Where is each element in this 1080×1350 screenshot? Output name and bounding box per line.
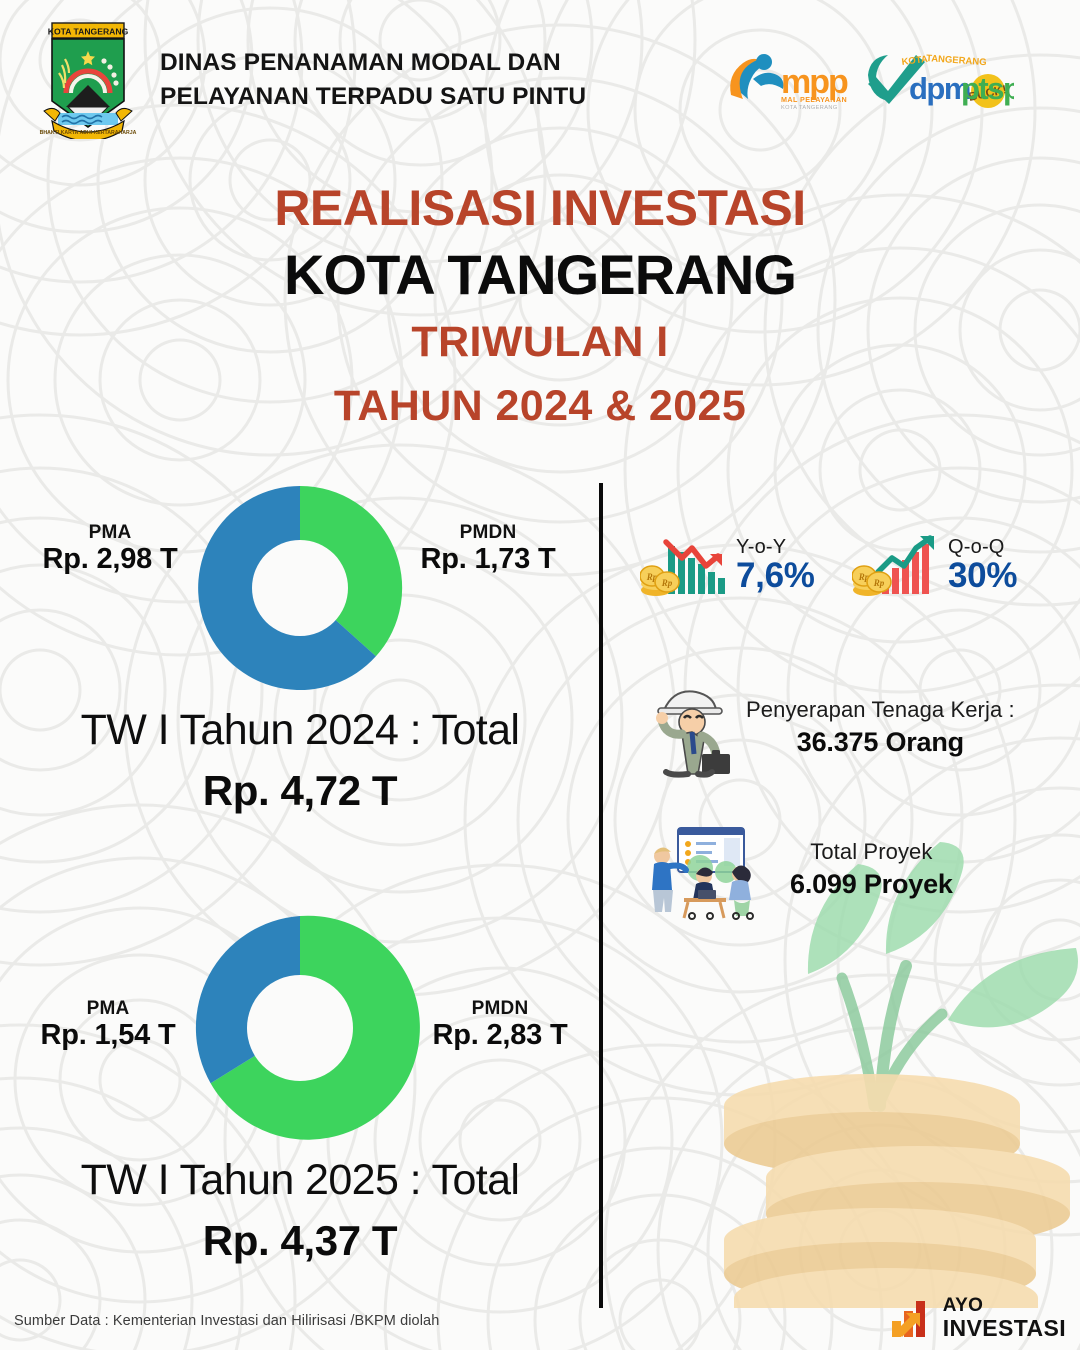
svg-text:TANGERANG: TANGERANG [926,53,987,68]
metric-qoq-value: 30% [948,558,1017,595]
svg-text:Rp: Rp [661,578,673,588]
donut-chart-2025-wrap [0,908,600,1128]
construction-worker-icon [648,678,734,778]
svg-text:MAL PELAYANAN PUBLIK: MAL PELAYANAN PUBLIK [781,95,848,104]
department-name: DINAS PENANAMAN MODAL DAN PELAYANAN TERP… [160,46,586,114]
donut-chart-2025 [180,908,420,1148]
department-name-line1: DINAS PENANAMAN MODAL DAN [160,46,586,80]
ayo-investasi-line1: AYO [943,1296,1066,1315]
svg-text:ptsp: ptsp [961,71,1014,106]
svg-text:KOTA TANGERANG: KOTA TANGERANG [48,27,129,37]
svg-text:KOTA: KOTA [901,54,928,68]
svg-text:KOTA TANGERANG: KOTA TANGERANG [781,105,838,111]
metric-qoq-label: Q-o-Q [948,536,1017,558]
metric-qoq-text: Q-o-Q 30% [948,536,1017,595]
team-presentation-icon [648,820,768,920]
vertical-divider [599,483,603,1308]
metric-yoy: Rp Rp Y-o-Y 7,6% [640,528,852,602]
title-line-triwulan: TRIWULAN I [0,315,1080,371]
poster-title: REALISASI INVESTASI KOTA TANGERANG TRIWU… [0,178,1080,435]
title-line-kota-tangerang: KOTA TANGERANG [0,241,1080,309]
metric-yoy-label: Y-o-Y [736,536,815,558]
chart-decline-icon: Rp Rp [640,528,726,602]
title-line-realisasi-investasi: REALISASI INVESTASI [0,178,1080,239]
kota-tangerang-crest-logo: KOTA TANGERANG BHAKTI KARYA ADHI KERT [38,21,138,139]
metric-labor-text: Penyerapan Tenaga Kerja : 36.375 Orang [746,696,1015,760]
growth-metrics-row: Rp Rp Y-o-Y 7,6% [640,528,1070,602]
ayo-investasi-line2: INVESTASI [943,1317,1066,1340]
svg-text:BHAKTI KARYA ADHI KERTARAHARJA: BHAKTI KARYA ADHI KERTARAHARJA [40,130,137,136]
ayo-investasi-arrow-icon [890,1297,934,1339]
department-name-line2: PELAYANAN TERPADU SATU PINTU [160,80,586,114]
metric-labor-caption: Penyerapan Tenaga Kerja : [746,696,1015,724]
panel-2025: TW I Tahun 2025 : Total Rp. 4,37 T [0,908,600,1265]
panel-2024: TW I Tahun 2024 : Total Rp. 4,72 T [0,478,600,815]
title-line-tahun: TAHUN 2024 & 2025 [0,379,1080,435]
total-value-2025: Rp. 4,37 T [0,1217,600,1265]
ayo-investasi-wordmark: AYO INVESTASI [943,1296,1066,1340]
metric-yoy-value: 7,6% [736,558,815,595]
metric-qoq: Rp Rp Q-o-Q 30% [852,528,1017,602]
svg-text:Rp: Rp [873,578,885,588]
metric-project-value: 6.099 Proyek [790,868,953,902]
metric-yoy-text: Y-o-Y 7,6% [736,536,815,595]
mpp-logo: mpp MAL PELAYANAN PUBLIK KOTA TANGERANG [723,49,848,111]
total-caption-2024: TW I Tahun 2024 : Total [0,706,600,755]
ayo-investasi-logo: AYO INVESTASI [890,1296,1066,1340]
metric-project-text: Total Proyek 6.099 Proyek [790,838,953,902]
donut-chart-2024-wrap [0,478,600,698]
partner-logo-group: mpp MAL PELAYANAN PUBLIK KOTA TANGERANG … [723,47,1050,113]
total-caption-2025: TW I Tahun 2025 : Total [0,1156,600,1205]
dpmptsp-logo: KOTA TANGERANG BUCK! dpm ptsp [862,47,1014,113]
infographic-poster: KOTA TANGERANG BHAKTI KARYA ADHI KERT [0,0,1080,1350]
donut-chart-2024 [190,478,410,698]
metric-labor-value: 36.375 Orang [746,726,1015,760]
header: KOTA TANGERANG BHAKTI KARYA ADHI KERT [0,0,1080,160]
metric-project-caption: Total Proyek [790,838,953,866]
chart-growth-icon: Rp Rp [852,528,938,602]
data-source-note: Sumber Data : Kementerian Investasi dan … [14,1313,439,1329]
metric-labor-absorption: Penyerapan Tenaga Kerja : 36.375 Orang [648,678,1068,778]
total-value-2024: Rp. 4,72 T [0,767,600,815]
metric-total-projects: Total Proyek 6.099 Proyek [648,820,1068,920]
